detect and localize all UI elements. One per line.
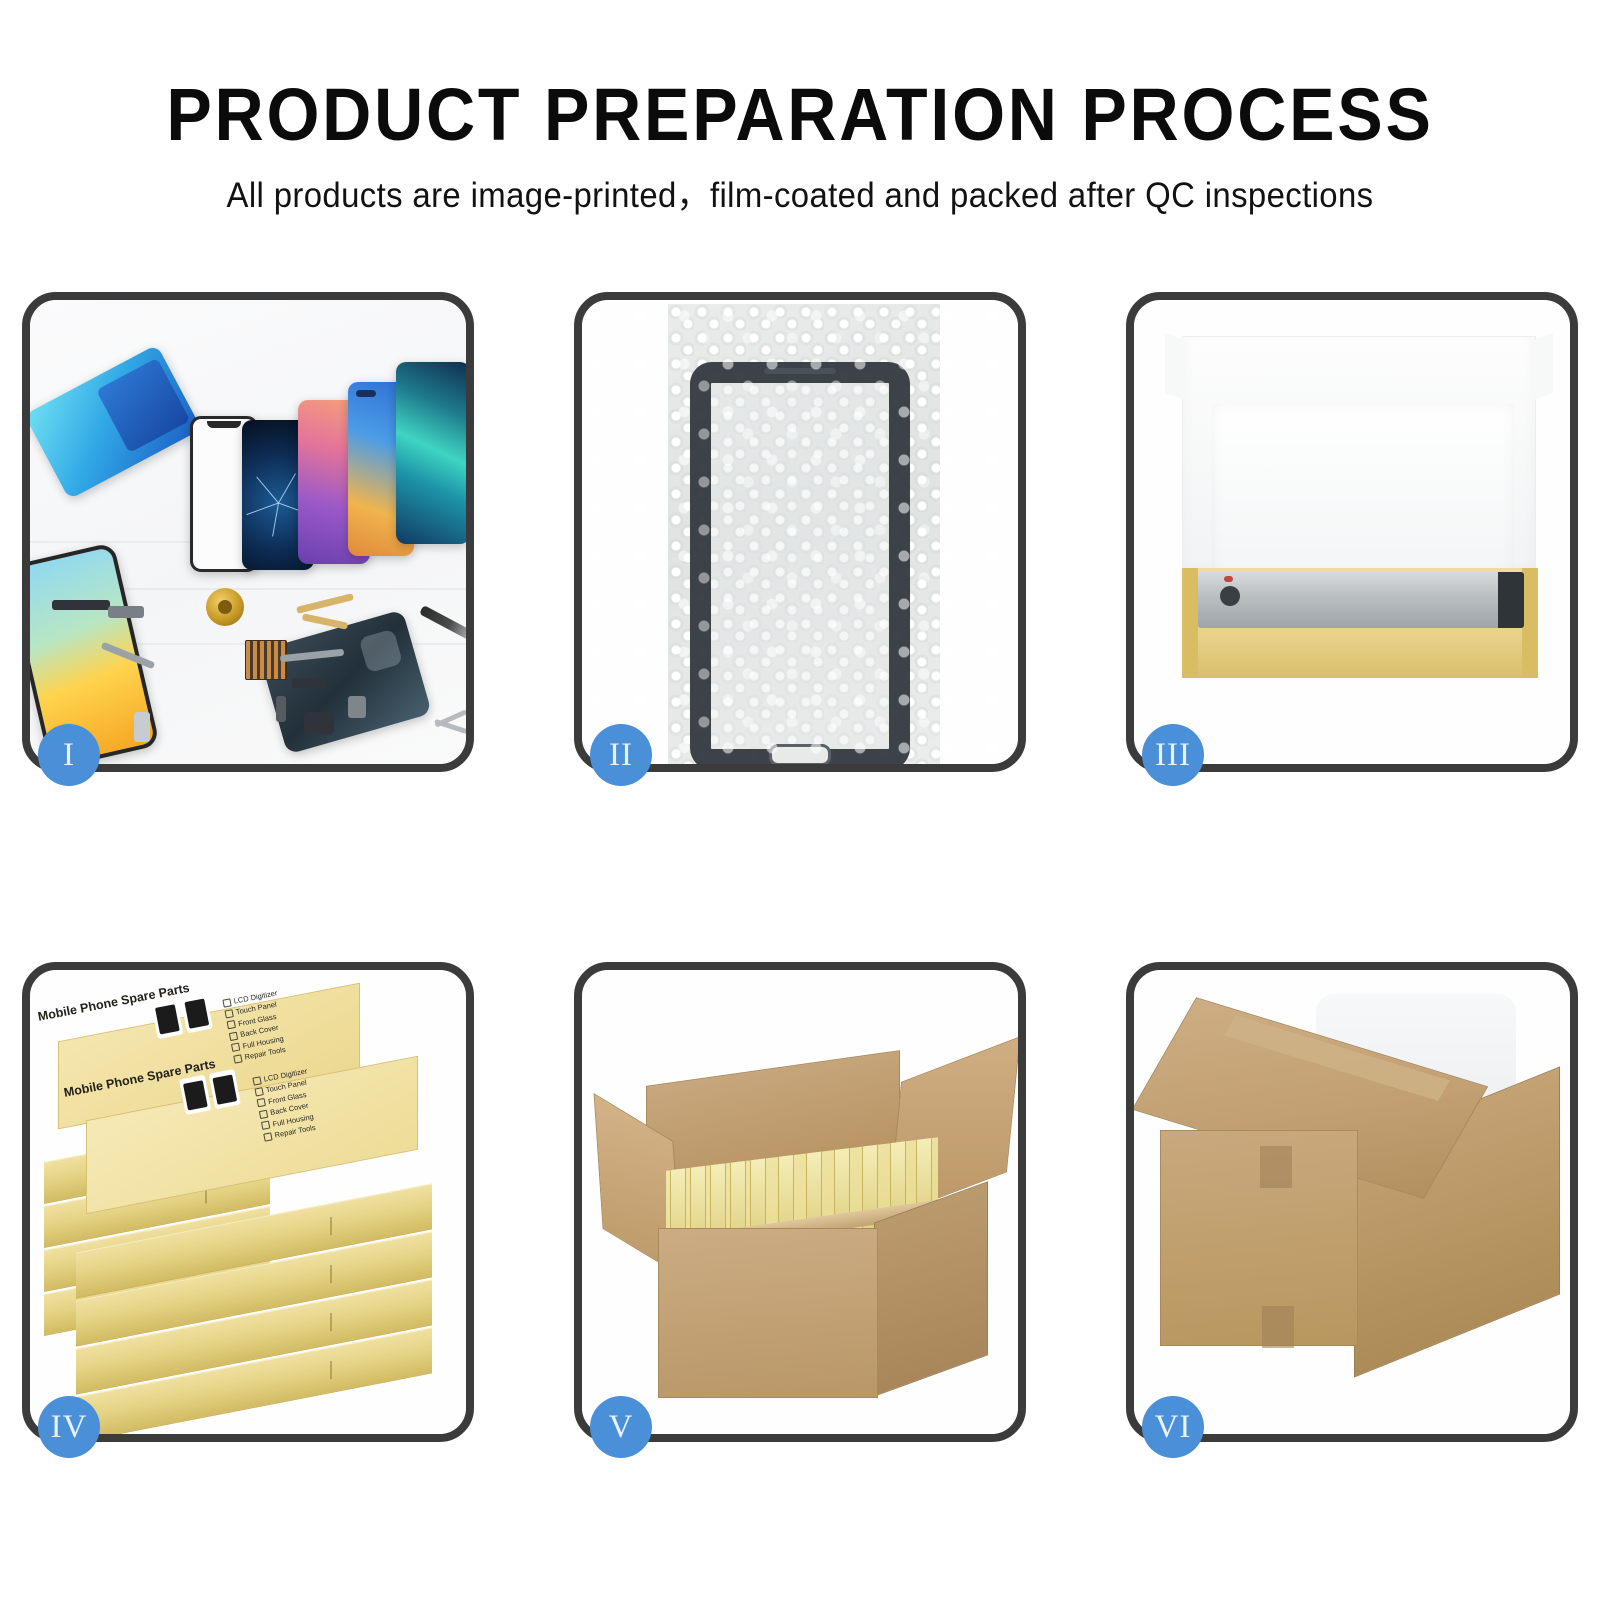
home-button-icon [769,744,831,764]
checkbox-icon [231,1043,240,1052]
page-title: PRODUCT PREPARATION PROCESS [64,0,1536,152]
checkbox-icon [254,1087,263,1096]
process-steps-grid: I II III [22,292,1578,1412]
carton-front-icon [658,1228,878,1398]
checkbox-icon [263,1132,272,1141]
checkbox-icon [227,1020,236,1029]
step-2-image [582,300,1018,764]
screen-thumbnail-icon [151,999,183,1039]
button-flex-icon [108,606,144,618]
page-subtitle: All products are image-printed，film-coat… [48,152,1552,213]
bracket-icon [276,696,286,722]
checkbox-icon [252,1076,261,1085]
home-button-icon [1220,586,1240,606]
step-3-image [1134,300,1570,764]
wireless-charging-coil-icon [206,588,244,626]
volume-flex-cable-icon [296,593,354,614]
checkbox-icon [233,1054,242,1063]
checkbox-icon [261,1121,270,1130]
carton-front-icon [1160,1130,1358,1346]
step-badge-2: II [590,724,652,786]
checkbox-icon [224,1009,233,1018]
foam-insert-icon [1212,404,1514,576]
step-panel-5: V [574,962,1026,1442]
checkbox-icon [222,998,231,1007]
screen-thumbnail-icon [181,993,213,1033]
packed-screen-icon [1198,572,1524,628]
camera-module-icon [304,712,334,734]
step-badge-6: VI [1142,1396,1204,1458]
step-panel-6: VI [1126,962,1578,1442]
power-flex-cable-icon [302,613,348,629]
vibrator-icon [292,678,326,688]
checkbox-icon [229,1032,238,1041]
screen-edge-icon [1498,572,1524,628]
step-panel-3: III [1126,292,1578,772]
step-panel-1: I [22,292,474,772]
step-6-image [1134,970,1570,1434]
tape-tab-icon [1260,1146,1292,1188]
checkbox-icon [259,1110,268,1119]
step-panel-4: Mobile Phone Spare Parts LCD Digitizer T… [22,962,474,1442]
earpiece-slot-icon [764,368,836,374]
checkbox-icon [257,1098,266,1107]
wave-phone-icon [396,362,466,544]
label-sticker-icon [1224,576,1233,582]
page-header: PRODUCT PREPARATION PROCESS All products… [0,0,1600,240]
sim-tray-icon [134,712,150,742]
step-4-image: Mobile Phone Spare Parts LCD Digitizer T… [30,970,466,1434]
wrapped-screen-icon [690,362,910,764]
tape-tab-icon [1262,1306,1294,1348]
step-badge-5: V [590,1396,652,1458]
step-5-image [582,970,1018,1434]
step-badge-3: III [1142,724,1204,786]
step-badge-1: I [38,724,100,786]
phone-housing-icon [258,609,432,754]
phone-back-cover-icon [30,344,202,499]
step-panel-2: II [574,292,1026,772]
speaker-mesh-icon [52,600,110,610]
step-badge-4: IV [38,1396,100,1458]
sensor-icon [348,696,366,718]
screen-thumbnail-icon [179,1075,211,1115]
screwdriver-icon [419,605,466,641]
step-1-image [30,300,466,764]
